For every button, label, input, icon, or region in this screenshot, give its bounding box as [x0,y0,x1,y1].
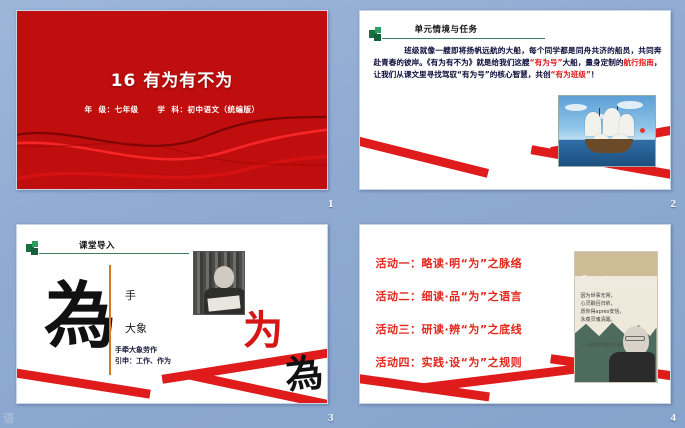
slide-3-class-intro[interactable]: 课堂导入 為 手 大象 手牵大象劳作 引申：工作、作为 为 為 [16,224,328,404]
cover-line-4: 永葆灵魂清醒。 [581,316,637,324]
gloss-elephant: 大象 [125,320,147,336]
slide-2-heading: 单元情境与任务 [415,23,478,35]
note-line-2: 引申：工作、作为 [115,356,171,367]
wave-decoration [17,11,327,189]
cover-line-3: 愿你得après安恬， [581,308,637,316]
slide-cell-3: 课堂导入 為 手 大象 手牵大象劳作 引申：工作、作为 为 為 3 语 [0,214,343,428]
slide-2-unit-context[interactable]: 单元情境与任务 班级就像一艘即将扬帆远航的大船，每个同学都是同舟共济的船员，共同… [359,10,671,190]
activity-list: 活动一：略读·明“为”之脉络活动二：细读·品“为”之语言活动三：研读·辨“为”之… [376,255,576,387]
ji-xianlin-portrait [193,251,245,315]
body-highlight-run: 航行指南 [623,58,653,67]
slide-1-subtitle-text: 年 级：七年级 学 科：初中语文（统编版） [17,104,327,115]
activity-item-3: 活动三：研读·辨“为”之底线 [376,321,576,337]
slide-cell-4: 活动一：略读·明“为”之脉络活动二：细读·品“为”之语言活动三：研读·辨“为”之… [343,214,685,428]
activity-item-2: 活动二：细读·品“为”之语言 [376,288,576,304]
body-run: 大船，量身定制的 [563,58,624,67]
slide-cell-2: 单元情境与任务 班级就像一艘即将扬帆远航的大船，每个同学都是同舟共济的船员，共同… [343,0,685,214]
slide-number-2: 2 [671,198,677,210]
ship-sun-icon [640,128,645,133]
body-highlight-run: “有为班级” [551,70,591,79]
gloss-hand: 手 [125,287,136,303]
book-cover-text: 因为世事无常， 心灵聊且归依， 愿你得après安恬， 永葆灵魂清醒。 [581,292,637,324]
slide-3-note: 手牵大象劳作 引申：工作、作为 [115,345,171,367]
activity-item-4: 活动四：实践·设“为”之规则 [376,354,576,370]
corner-glyph: 语 [3,410,14,426]
body-highlight-run: “有为号” [530,58,563,67]
slide-cell-1: 16 有为有不为 年 级：七年级 学 科：初中语文（统编版） 1 [0,0,343,214]
black-calligraphy-wei: 為 [283,353,325,395]
author-portrait-icon [609,324,655,382]
slide-2-body-text: 班级就像一艘即将扬帆远航的大船，每个同学都是同舟共济的船员，共同奔赴青春的彼岸。… [374,45,662,82]
slide-number-4: 4 [671,412,677,424]
note-line-1: 手牵大象劳作 [115,345,171,356]
slide-1-title[interactable]: 16 有为有不为 年 级：七年级 学 科：初中语文（统编版） [16,10,328,190]
green-square-marker-icon [369,27,384,42]
sailing-ship-photo [558,95,656,167]
book-cover-image: 因为世事无常， 心灵聊且归依， 愿你得après安恬， 永葆灵魂清醒。 ——纪念… [574,251,658,383]
slide-3-heading: 课堂导入 [79,239,115,251]
slide-4-activities[interactable]: 活动一：略读·明“为”之脉络活动二：细读·品“为”之语言活动三：研读·辨“为”之… [359,224,671,404]
heading-rule [382,38,545,39]
heading-rule [39,253,189,254]
cover-line-1: 因为世事无常， [581,292,637,300]
vertical-divider [109,265,111,375]
activity-item-1: 活动一：略读·明“为”之脉络 [376,255,576,271]
cover-line-2: 心灵聊且归依， [581,300,637,308]
slide-number-3: 3 [328,412,334,424]
red-calligraphy-wei: 为 [243,311,283,351]
slide-thumbnail-grid: 16 有为有不为 年 级：七年级 学 科：初中语文（统编版） 1 单元情境与任务… [0,0,685,428]
slide-number-1: 1 [328,198,334,210]
body-run: ！ [591,70,599,79]
ship-hull [585,139,633,153]
slide-1-title-text: 16 有为有不为 [17,66,327,91]
wave-soft-icon [17,129,327,189]
